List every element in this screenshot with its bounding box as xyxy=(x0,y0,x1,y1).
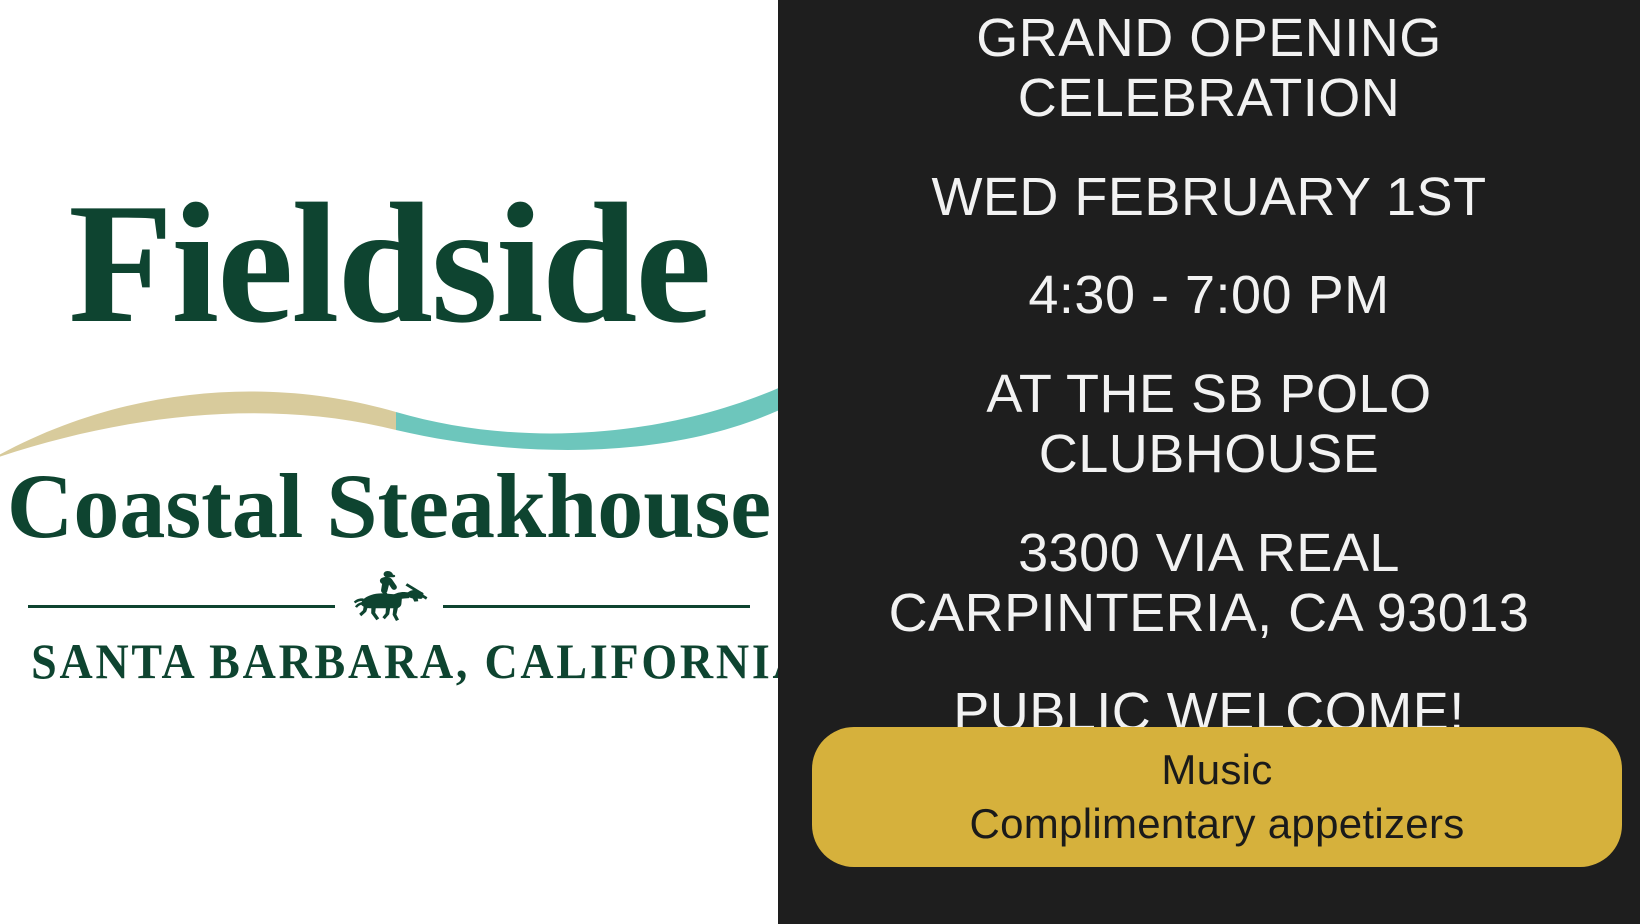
event-venue: AT THE SB POLO CLUBHOUSE xyxy=(804,364,1614,485)
event-headline: GRAND OPENING CELEBRATION xyxy=(804,8,1614,129)
grand-opening-flyer: Fieldside Coastal Steakhouse xyxy=(0,0,1640,924)
event-address: 3300 VIA REAL CARPINTERIA, CA 93013 xyxy=(804,523,1614,644)
promo-banner: Music Complimentary appetizers xyxy=(812,727,1622,867)
brand-tagline: Coastal Steakhouse xyxy=(0,460,778,552)
event-date: WED FEBRUARY 1ST xyxy=(804,167,1614,227)
brand-divider xyxy=(28,565,750,623)
brand-location: SANTA BARBARA, CALIFORNIA xyxy=(31,636,747,686)
event-time: 4:30 - 7:00 PM xyxy=(804,265,1614,325)
brand-logo-panel: Fieldside Coastal Steakhouse xyxy=(0,0,778,924)
event-details-stack: GRAND OPENING CELEBRATION WED FEBRUARY 1… xyxy=(778,8,1640,742)
promo-banner-text: Music Complimentary appetizers xyxy=(969,743,1464,851)
divider-rule-right xyxy=(443,605,750,608)
brand-wave-graphic xyxy=(0,368,778,460)
event-details-panel: GRAND OPENING CELEBRATION WED FEBRUARY 1… xyxy=(778,0,1640,924)
polo-player-icon xyxy=(343,565,435,623)
brand-name: Fieldside xyxy=(0,178,778,350)
divider-rule-left xyxy=(28,605,335,608)
